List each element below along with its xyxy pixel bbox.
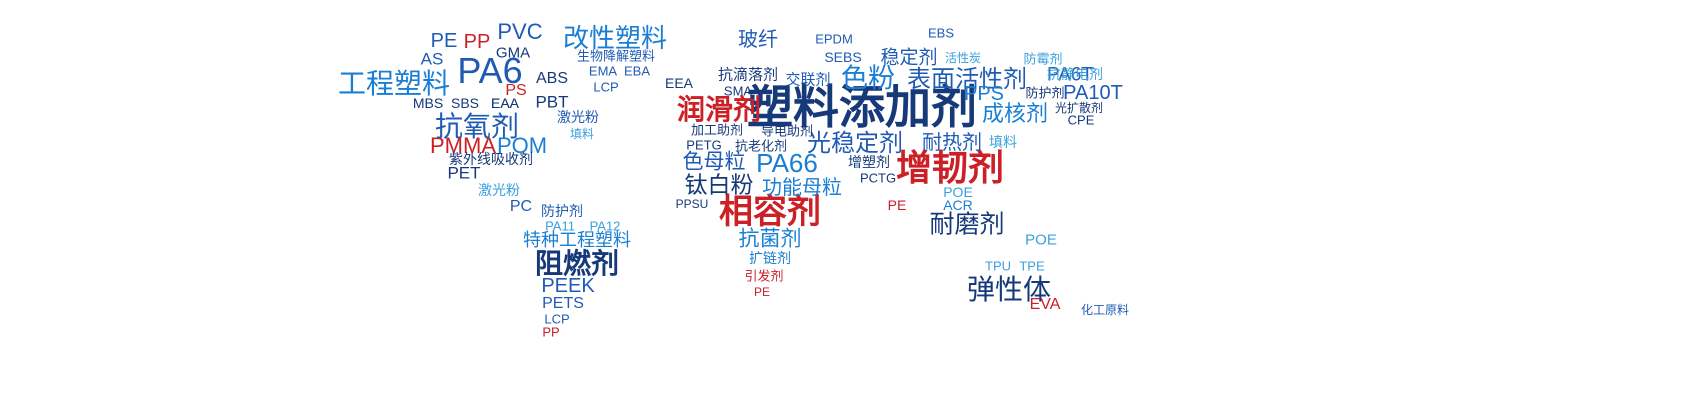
word-cloud-term[interactable]: 光扩散剂 bbox=[1055, 102, 1103, 114]
word-cloud-term[interactable]: 填料 bbox=[989, 136, 1017, 150]
word-cloud-term[interactable]: EBS bbox=[928, 27, 954, 40]
word-cloud-term[interactable]: LCP bbox=[593, 81, 618, 94]
word-cloud-term[interactable]: 激光粉 bbox=[478, 184, 520, 198]
word-cloud-term[interactable]: 抗菌剂 bbox=[739, 229, 802, 250]
word-cloud-term[interactable]: 防霉剂 bbox=[1023, 54, 1062, 67]
word-cloud-term[interactable]: PA10T bbox=[1063, 83, 1123, 103]
word-cloud-term[interactable]: 工程塑料 bbox=[338, 70, 450, 98]
word-cloud-term[interactable]: PE bbox=[888, 198, 907, 212]
word-cloud-term[interactable]: 加工助剂 bbox=[691, 125, 743, 138]
word-cloud-term[interactable]: ABS bbox=[536, 71, 568, 87]
word-cloud-term[interactable]: 紫外线吸收剂 bbox=[449, 153, 533, 167]
word-cloud-term[interactable]: PETG bbox=[686, 139, 721, 152]
word-cloud-term[interactable]: 改性塑料 bbox=[563, 26, 667, 52]
word-cloud-term[interactable]: 色母粒 bbox=[683, 152, 746, 173]
word-cloud-term[interactable]: EVA bbox=[1030, 297, 1061, 313]
word-cloud-term[interactable]: 交联剂 bbox=[785, 73, 830, 88]
word-cloud-term[interactable]: POE bbox=[1025, 233, 1057, 248]
word-cloud-term[interactable]: 阻燃剂 bbox=[535, 250, 619, 278]
word-cloud-term[interactable]: 耐热剂 bbox=[922, 132, 982, 152]
word-cloud-term[interactable]: 引发剂 bbox=[744, 271, 783, 284]
word-cloud-term[interactable]: PVC bbox=[497, 21, 542, 43]
word-cloud-term[interactable]: ACR bbox=[943, 198, 973, 212]
word-cloud-term[interactable]: TPE bbox=[1019, 260, 1044, 273]
word-cloud-term[interactable]: PETS bbox=[542, 296, 584, 312]
word-cloud-term[interactable]: PP bbox=[464, 32, 491, 52]
word-cloud-term[interactable]: PPS bbox=[964, 84, 1004, 104]
word-cloud-term[interactable]: 防护剂 bbox=[1025, 88, 1064, 101]
word-cloud-term[interactable]: 增韧剂 bbox=[896, 151, 1004, 187]
word-cloud-term[interactable]: PC bbox=[510, 199, 532, 215]
word-cloud-term[interactable]: 活性炭 bbox=[945, 52, 981, 64]
word-cloud-term[interactable]: 填料 bbox=[570, 128, 594, 140]
word-cloud-term[interactable]: CPE bbox=[1068, 114, 1095, 127]
word-cloud-term[interactable]: 激光粉 bbox=[557, 111, 599, 125]
word-cloud-term[interactable]: 钛白粉 bbox=[685, 175, 754, 198]
word-cloud-term[interactable]: SMA bbox=[724, 85, 752, 98]
word-cloud-term[interactable]: MBS bbox=[413, 96, 443, 110]
word-cloud-term[interactable]: 相容剂 bbox=[719, 195, 821, 229]
word-cloud-term[interactable]: EBA bbox=[624, 65, 650, 78]
word-cloud-term[interactable]: TPU bbox=[985, 260, 1011, 273]
word-cloud-term[interactable]: 玻纤 bbox=[738, 29, 778, 49]
word-cloud-term[interactable]: 色粉 bbox=[841, 66, 895, 93]
word-cloud-term[interactable]: 导电助剂 bbox=[761, 126, 813, 139]
word-cloud-term[interactable]: EMA bbox=[589, 65, 617, 78]
word-cloud-term[interactable]: 增塑剂 bbox=[848, 156, 890, 170]
word-cloud-term[interactable]: PEEK bbox=[541, 276, 594, 296]
word-cloud-term[interactable]: PBT bbox=[535, 94, 568, 111]
word-cloud-term[interactable]: EPDM bbox=[815, 33, 853, 46]
word-cloud-canvas: 塑料添加剂增韧剂相容剂润滑剂阻燃剂PA6工程塑料抗氧剂改性塑料色粉表面活性剂弹性… bbox=[0, 0, 1707, 400]
word-cloud-term[interactable]: 稳定剂 bbox=[880, 49, 937, 68]
word-cloud-term[interactable]: 化工原料 bbox=[1081, 304, 1129, 316]
word-cloud-term[interactable]: PCTG bbox=[860, 172, 896, 185]
word-cloud-term[interactable]: PE bbox=[431, 31, 458, 51]
word-cloud-term[interactable]: 扩链剂 bbox=[749, 252, 791, 266]
word-cloud-term[interactable]: 生物降解塑料 bbox=[577, 51, 655, 64]
word-cloud-term[interactable]: 成核剂 bbox=[982, 104, 1048, 126]
word-cloud-term[interactable]: 抗静电剂 bbox=[1047, 68, 1103, 82]
word-cloud-term[interactable]: 防护剂 bbox=[541, 205, 583, 219]
word-cloud-term[interactable]: 抗滴落剂 bbox=[718, 68, 778, 83]
word-cloud-term[interactable]: PPSU bbox=[676, 198, 709, 210]
word-cloud-term[interactable]: PE bbox=[754, 286, 770, 298]
word-cloud-term[interactable]: PP bbox=[542, 326, 559, 339]
word-cloud-term[interactable]: GMA bbox=[496, 46, 530, 61]
word-cloud-term[interactable]: PA11 bbox=[545, 220, 575, 233]
word-cloud-term[interactable]: AS bbox=[421, 51, 444, 68]
word-cloud-term[interactable]: SBS bbox=[451, 96, 479, 110]
word-cloud-term[interactable]: 功能母粒 bbox=[762, 177, 842, 197]
word-cloud-term[interactable]: PA12 bbox=[590, 220, 621, 233]
word-cloud-term[interactable]: 润滑剂 bbox=[677, 96, 761, 124]
word-cloud-term[interactable]: 抗老化剂 bbox=[735, 141, 787, 154]
word-cloud-term[interactable]: 光稳定剂 bbox=[807, 131, 903, 155]
word-cloud-term[interactable]: SEBS bbox=[824, 50, 861, 64]
word-cloud-term[interactable]: EEA bbox=[665, 76, 693, 90]
word-cloud-term[interactable]: 耐磨剂 bbox=[929, 212, 1004, 237]
word-cloud-term[interactable]: EAA bbox=[491, 96, 519, 110]
word-cloud-term[interactable]: 特种工程塑料 bbox=[523, 232, 631, 250]
